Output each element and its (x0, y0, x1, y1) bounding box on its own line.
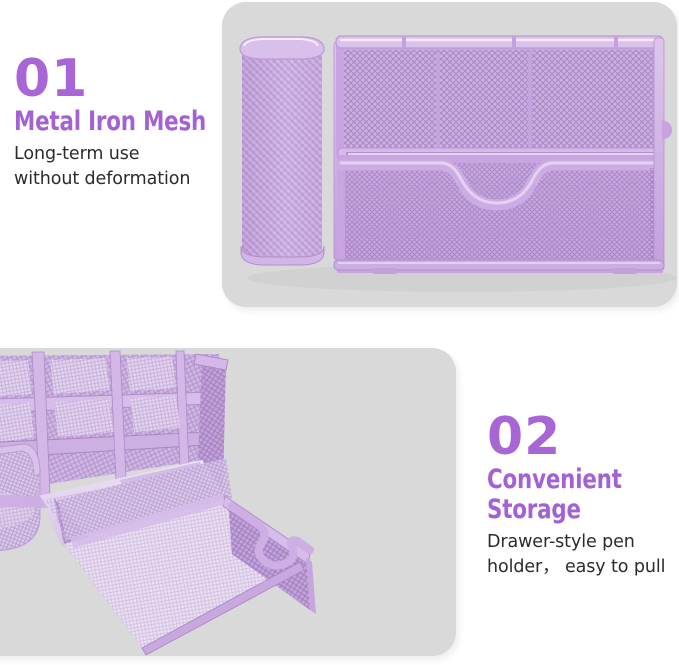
product-photo-angled-drawer-open (0, 348, 456, 656)
feature-01-subtext: Long-term use without deformation (14, 142, 219, 192)
feature-02-headline-line-1: Convenient (487, 465, 654, 495)
feature-01-photo-panel (222, 2, 677, 307)
feature-02-headline-line-2: Storage (487, 495, 654, 525)
upper-compartments (336, 36, 663, 157)
feature-02-text-block: 02 Convenient Storage Drawer-style pen h… (487, 410, 677, 580)
feature-01-headline: Metal Iron Mesh (14, 107, 194, 137)
drawer (341, 152, 659, 269)
feature-01-number: 01 (14, 52, 219, 106)
feature-01-subtext-line-2: without deformation (14, 167, 219, 192)
feature-02-number: 02 (487, 410, 677, 464)
product-photo-front-view (222, 2, 677, 307)
feature-01-text-block: 01 Metal Iron Mesh Long-term use without… (14, 52, 219, 192)
feature-01-subtext-line-1: Long-term use (14, 142, 219, 167)
feature-02-headline: Convenient Storage (487, 465, 654, 525)
feature-02-subtext-line-2: holder， easy to pull (487, 555, 677, 580)
feature-02-photo-panel (0, 348, 456, 656)
feature-02-subtext-line-1: Drawer-style pen (487, 530, 677, 555)
feature-02-subtext: Drawer-style pen holder， easy to pull (487, 530, 677, 580)
